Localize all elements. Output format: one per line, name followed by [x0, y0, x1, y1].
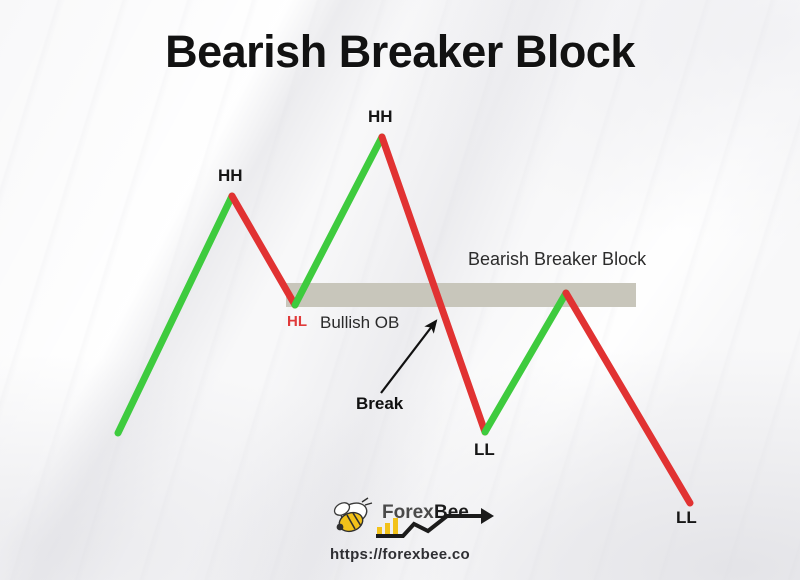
bee-icon: [332, 498, 372, 535]
logo-brand-first: Forex: [382, 502, 434, 523]
segment-impulse-up-2: [295, 137, 382, 305]
label-hl: HL: [287, 313, 307, 330]
label-ll-second: LL: [676, 508, 697, 528]
segment-breakdown-2: [566, 293, 690, 503]
price-action-diagram: [0, 0, 800, 580]
bearish-breaker-block-zone: [286, 283, 636, 307]
segment-impulse-up-1: [118, 196, 232, 433]
segment-pullback-1: [232, 196, 295, 305]
label-hh-first: HH: [218, 166, 243, 186]
forexbee-logo: Forex Bee: [330, 496, 495, 542]
label-bearish-breaker-block: Bearish Breaker Block: [468, 249, 646, 270]
label-ll-first: LL: [474, 440, 495, 460]
label-break: Break: [356, 394, 403, 414]
label-hh-second: HH: [368, 107, 393, 127]
label-bullish-ob: Bullish OB: [320, 313, 399, 333]
chart-canvas: Bearish Breaker Block HH: [0, 0, 800, 580]
logo-brand-second: Bee: [434, 502, 469, 523]
segment-retrace-up: [485, 293, 566, 432]
site-url: https://forexbee.co: [0, 546, 800, 563]
